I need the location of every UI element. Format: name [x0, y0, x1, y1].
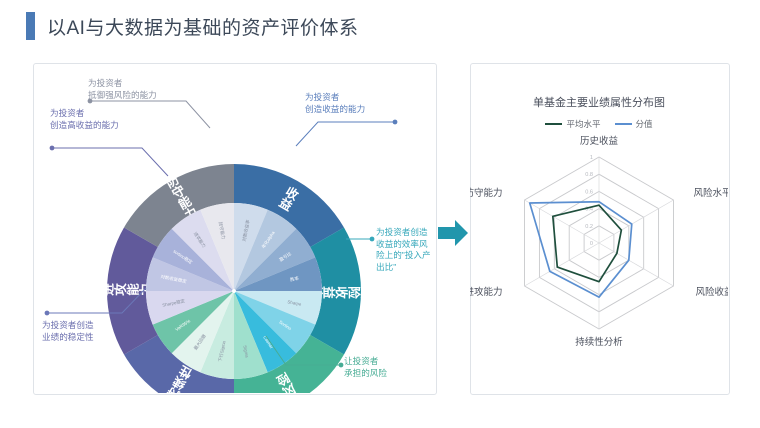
radar-spoke — [525, 243, 599, 286]
legend-swatch-average — [545, 123, 562, 125]
fund-performance-radar: 单基金主要业绩属性分布图 平均水平 分值 10.80.60.40.20历史收益风… — [470, 63, 728, 393]
radar-tick-label: 0.8 — [585, 172, 593, 178]
radar-axis-label: 防守能力 — [470, 187, 503, 199]
callout-defend: 为投资者 抵御强风险的能力 — [88, 78, 157, 101]
radar-tick-label: 0 — [590, 241, 593, 247]
donut-outer-label: 进攻能力 — [101, 284, 153, 298]
legend-label-average: 平均水平 — [566, 118, 600, 130]
page-title: 以AI与大数据为基础的资产评价体系 — [26, 12, 358, 40]
radar-axis-label: 进攻能力 — [470, 286, 503, 298]
radar-axis-label: 风险水平 — [693, 187, 728, 199]
callout-efficiency: 为投资者创造 收益的效率风 险上的"投入产 出比" — [376, 227, 436, 273]
legend-item-average: 平均水平 — [545, 118, 600, 130]
legend-item-score: 分值 — [615, 118, 653, 130]
callout-risk-taken: 让投资者 承担的风险 — [344, 356, 387, 379]
radar-tick-label: 0.6 — [585, 189, 593, 195]
radar-axis-label: 持续性分析 — [575, 336, 623, 348]
radar-tick-label: 0.2 — [585, 224, 593, 230]
callout-stability: 为投资者创造 业绩的稳定性 — [42, 320, 94, 343]
legend-label-score: 分值 — [636, 118, 653, 130]
radar-spoke — [599, 200, 673, 243]
radar-title: 单基金主要业绩属性分布图 — [470, 94, 728, 110]
radar-legend: 平均水平 分值 — [470, 118, 728, 130]
radar-tick-label: 1 — [590, 155, 593, 161]
right-arrow-icon — [438, 218, 468, 248]
title-label: 以AI与大数据为基础的资产评价体系 — [47, 13, 358, 40]
radar-svg: 10.80.60.40.20历史收益风险水平风险收益比持续性分析进攻能力防守能力 — [470, 63, 728, 393]
radar-series-分值 — [530, 202, 632, 297]
title-accent-bar — [26, 12, 35, 40]
radar-axis-label: 风险收益比 — [695, 286, 728, 298]
radar-axis-label: 历史收益 — [580, 135, 619, 147]
legend-swatch-score — [615, 123, 632, 125]
callout-create-return: 为投资者 创造收益的能力 — [305, 92, 365, 115]
callout-high-return: 为投资者 创造高收益的能力 — [50, 108, 119, 131]
